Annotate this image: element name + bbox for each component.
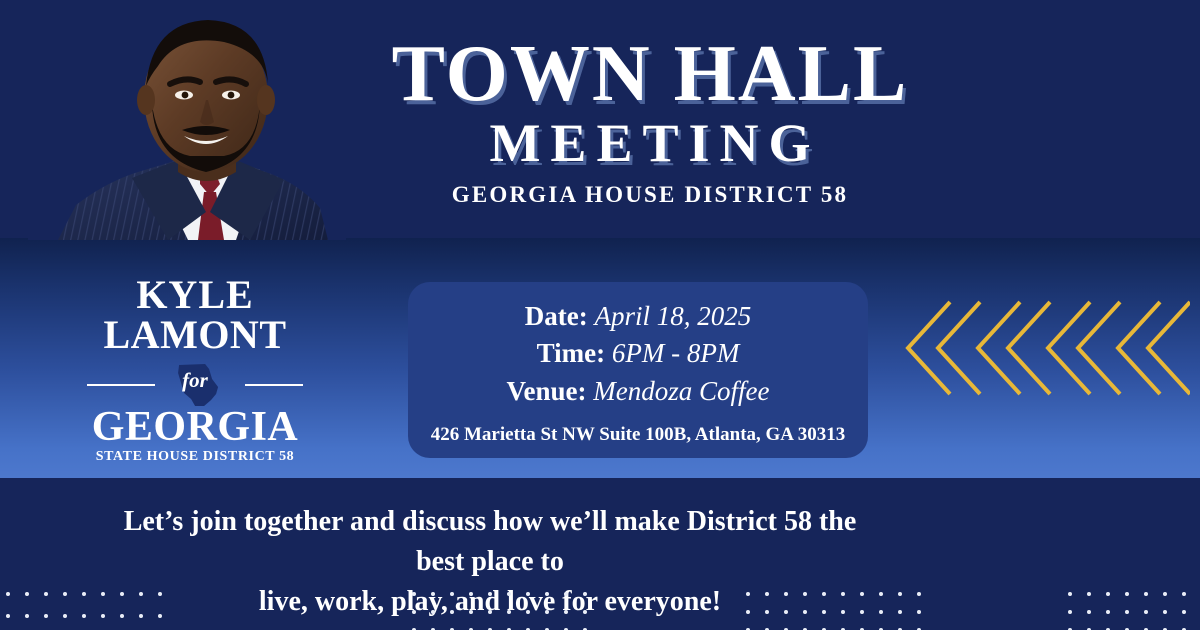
dot (803, 610, 807, 614)
chevron-pair-4 (1118, 302, 1190, 394)
dot (44, 614, 48, 618)
dot (450, 592, 454, 596)
chevron-decoration (900, 296, 1190, 400)
dot (784, 592, 788, 596)
dot (1106, 610, 1110, 614)
dot (526, 610, 530, 614)
dot (82, 592, 86, 596)
venue-address: 426 Marietta St NW Suite 100B, Atlanta, … (408, 424, 868, 446)
dot (765, 610, 769, 614)
dot-grid-center-left (412, 592, 602, 630)
dot (101, 614, 105, 618)
dot (139, 592, 143, 596)
dot (6, 614, 10, 618)
dot (1144, 592, 1148, 596)
header-block: TOWN HALL MEETING GEORGIA HOUSE DISTRICT… (340, 38, 960, 208)
dot (898, 610, 902, 614)
dot (545, 610, 549, 614)
dot (803, 592, 807, 596)
dot (63, 614, 67, 618)
dot (822, 610, 826, 614)
dot (583, 610, 587, 614)
dot (6, 592, 10, 596)
dot-grid-center-right (746, 592, 936, 630)
dot (1144, 610, 1148, 614)
district-label: GEORGIA HOUSE DISTRICT 58 (340, 182, 960, 208)
dot (583, 592, 587, 596)
candidate-portrait (28, 0, 346, 240)
dot (746, 592, 750, 596)
dot (431, 592, 435, 596)
dot (431, 610, 435, 614)
dot (917, 610, 921, 614)
detail-row-time: Time: 6PM - 8PM (408, 335, 868, 372)
dot (1125, 592, 1129, 596)
dot (25, 614, 29, 618)
dot (822, 592, 826, 596)
dot (564, 592, 568, 596)
dot (488, 610, 492, 614)
campaign-logo: KYLE LAMONT for GEORGIA STATE HOUSE DIST… (75, 276, 315, 465)
dot (120, 592, 124, 596)
dot (765, 592, 769, 596)
dot (879, 610, 883, 614)
dot (1087, 592, 1091, 596)
chevron-pair-1 (908, 302, 980, 394)
dot (917, 592, 921, 596)
dot (860, 592, 864, 596)
dot (841, 592, 845, 596)
event-details-card: Date: April 18, 2025 Time: 6PM - 8PM Ven… (408, 282, 868, 458)
dot (1087, 610, 1091, 614)
date-value: April 18, 2025 (594, 301, 751, 331)
dot (44, 592, 48, 596)
dot (507, 592, 511, 596)
dot (545, 592, 549, 596)
date-label: Date: (525, 301, 588, 331)
logo-last-name: LAMONT (75, 316, 315, 354)
dot (101, 592, 105, 596)
dot (1106, 592, 1110, 596)
dot (158, 592, 162, 596)
page-title: TOWN HALL (340, 38, 960, 112)
page-subtitle: MEETING (340, 116, 960, 170)
chevron-pair-3 (1048, 302, 1120, 394)
dot-grid-right (1068, 592, 1200, 630)
dot (784, 610, 788, 614)
dot (158, 614, 162, 618)
detail-row-date: Date: April 18, 2025 (408, 298, 868, 335)
divider-rule-left (87, 384, 155, 386)
logo-first-name: KYLE (75, 276, 315, 314)
logo-state: GEORGIA (75, 408, 315, 448)
logo-connector: for (182, 368, 208, 393)
dot (1068, 592, 1072, 596)
dot (412, 610, 416, 614)
tagline-line-1: Let’s join together and discuss how we’l… (100, 502, 880, 582)
dot (469, 592, 473, 596)
dot (450, 610, 454, 614)
dot (1125, 610, 1129, 614)
dot (25, 592, 29, 596)
dot (526, 592, 530, 596)
dot (1163, 592, 1167, 596)
dot (82, 614, 86, 618)
dot (1182, 610, 1186, 614)
divider-rule-right (245, 384, 303, 386)
dot-grid-left (6, 592, 177, 630)
time-value: 6PM - 8PM (612, 338, 739, 368)
dot (1163, 610, 1167, 614)
dot (564, 610, 568, 614)
dot (1182, 592, 1186, 596)
dot (469, 610, 473, 614)
chevron-pair-2 (978, 302, 1050, 394)
dot (746, 610, 750, 614)
dot (841, 610, 845, 614)
dot (120, 614, 124, 618)
dot (898, 592, 902, 596)
dot (63, 592, 67, 596)
dot (412, 592, 416, 596)
dot (507, 610, 511, 614)
venue-label: Venue: (507, 376, 587, 406)
dot (488, 592, 492, 596)
dot (879, 592, 883, 596)
venue-value: Mendoza Coffee (593, 376, 769, 406)
logo-divider-row: for (75, 362, 315, 406)
logo-office: STATE HOUSE DISTRICT 58 (75, 449, 315, 465)
time-label: Time: (537, 338, 606, 368)
event-flyer: TOWN HALL MEETING GEORGIA HOUSE DISTRICT… (0, 0, 1200, 630)
dot (1068, 610, 1072, 614)
detail-row-venue: Venue: Mendoza Coffee (408, 373, 868, 410)
dot (139, 614, 143, 618)
dot (860, 610, 864, 614)
